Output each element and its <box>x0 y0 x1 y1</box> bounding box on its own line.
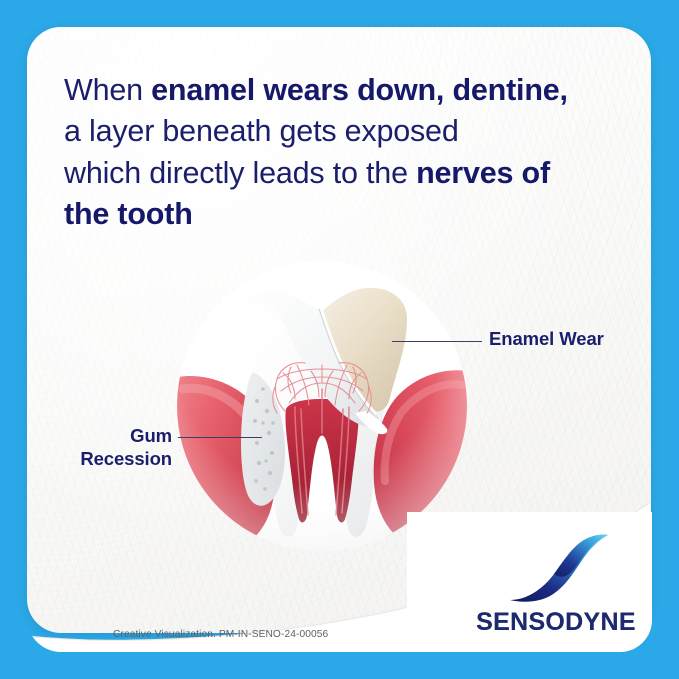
legal-disclaimer: Creative Visualization. PM-IN-SENO-24-00… <box>113 629 328 640</box>
brand-logo: SENSODYNE <box>466 526 646 637</box>
callout-gum-recession-label-line2: Recession <box>80 448 172 469</box>
headline-line-4: the tooth <box>64 197 193 231</box>
gum-recession-leader-line <box>178 437 262 438</box>
enamel-wear-leader-line <box>392 341 482 342</box>
headline-line-1: When enamel wears down, dentine, <box>64 73 568 107</box>
headline-text-bold: enamel wears down, dentine, <box>151 73 568 107</box>
sensodyne-swoosh-icon <box>502 526 610 604</box>
callout-enamel-wear: Enamel Wear <box>489 328 604 351</box>
callout-gum-recession-label-line1: Gum <box>130 425 172 446</box>
headline-text-plain: When <box>64 73 151 107</box>
headline-line-2: a layer beneath gets exposed <box>64 114 459 148</box>
brand-wordmark: SENSODYNE <box>466 608 646 637</box>
headline-text-plain: which directly leads to the <box>64 156 416 190</box>
tooth-illustration <box>177 261 467 551</box>
headline-text-bold: nerves of <box>416 156 550 190</box>
page-title: When enamel wears down, dentine, a layer… <box>64 70 594 236</box>
advertisement-canvas: When enamel wears down, dentine, a layer… <box>0 0 679 679</box>
callout-gum-recession: Gum Recession <box>44 425 172 470</box>
callout-enamel-wear-label: Enamel Wear <box>489 328 604 349</box>
headline-line-3: which directly leads to the nerves of <box>64 156 550 190</box>
